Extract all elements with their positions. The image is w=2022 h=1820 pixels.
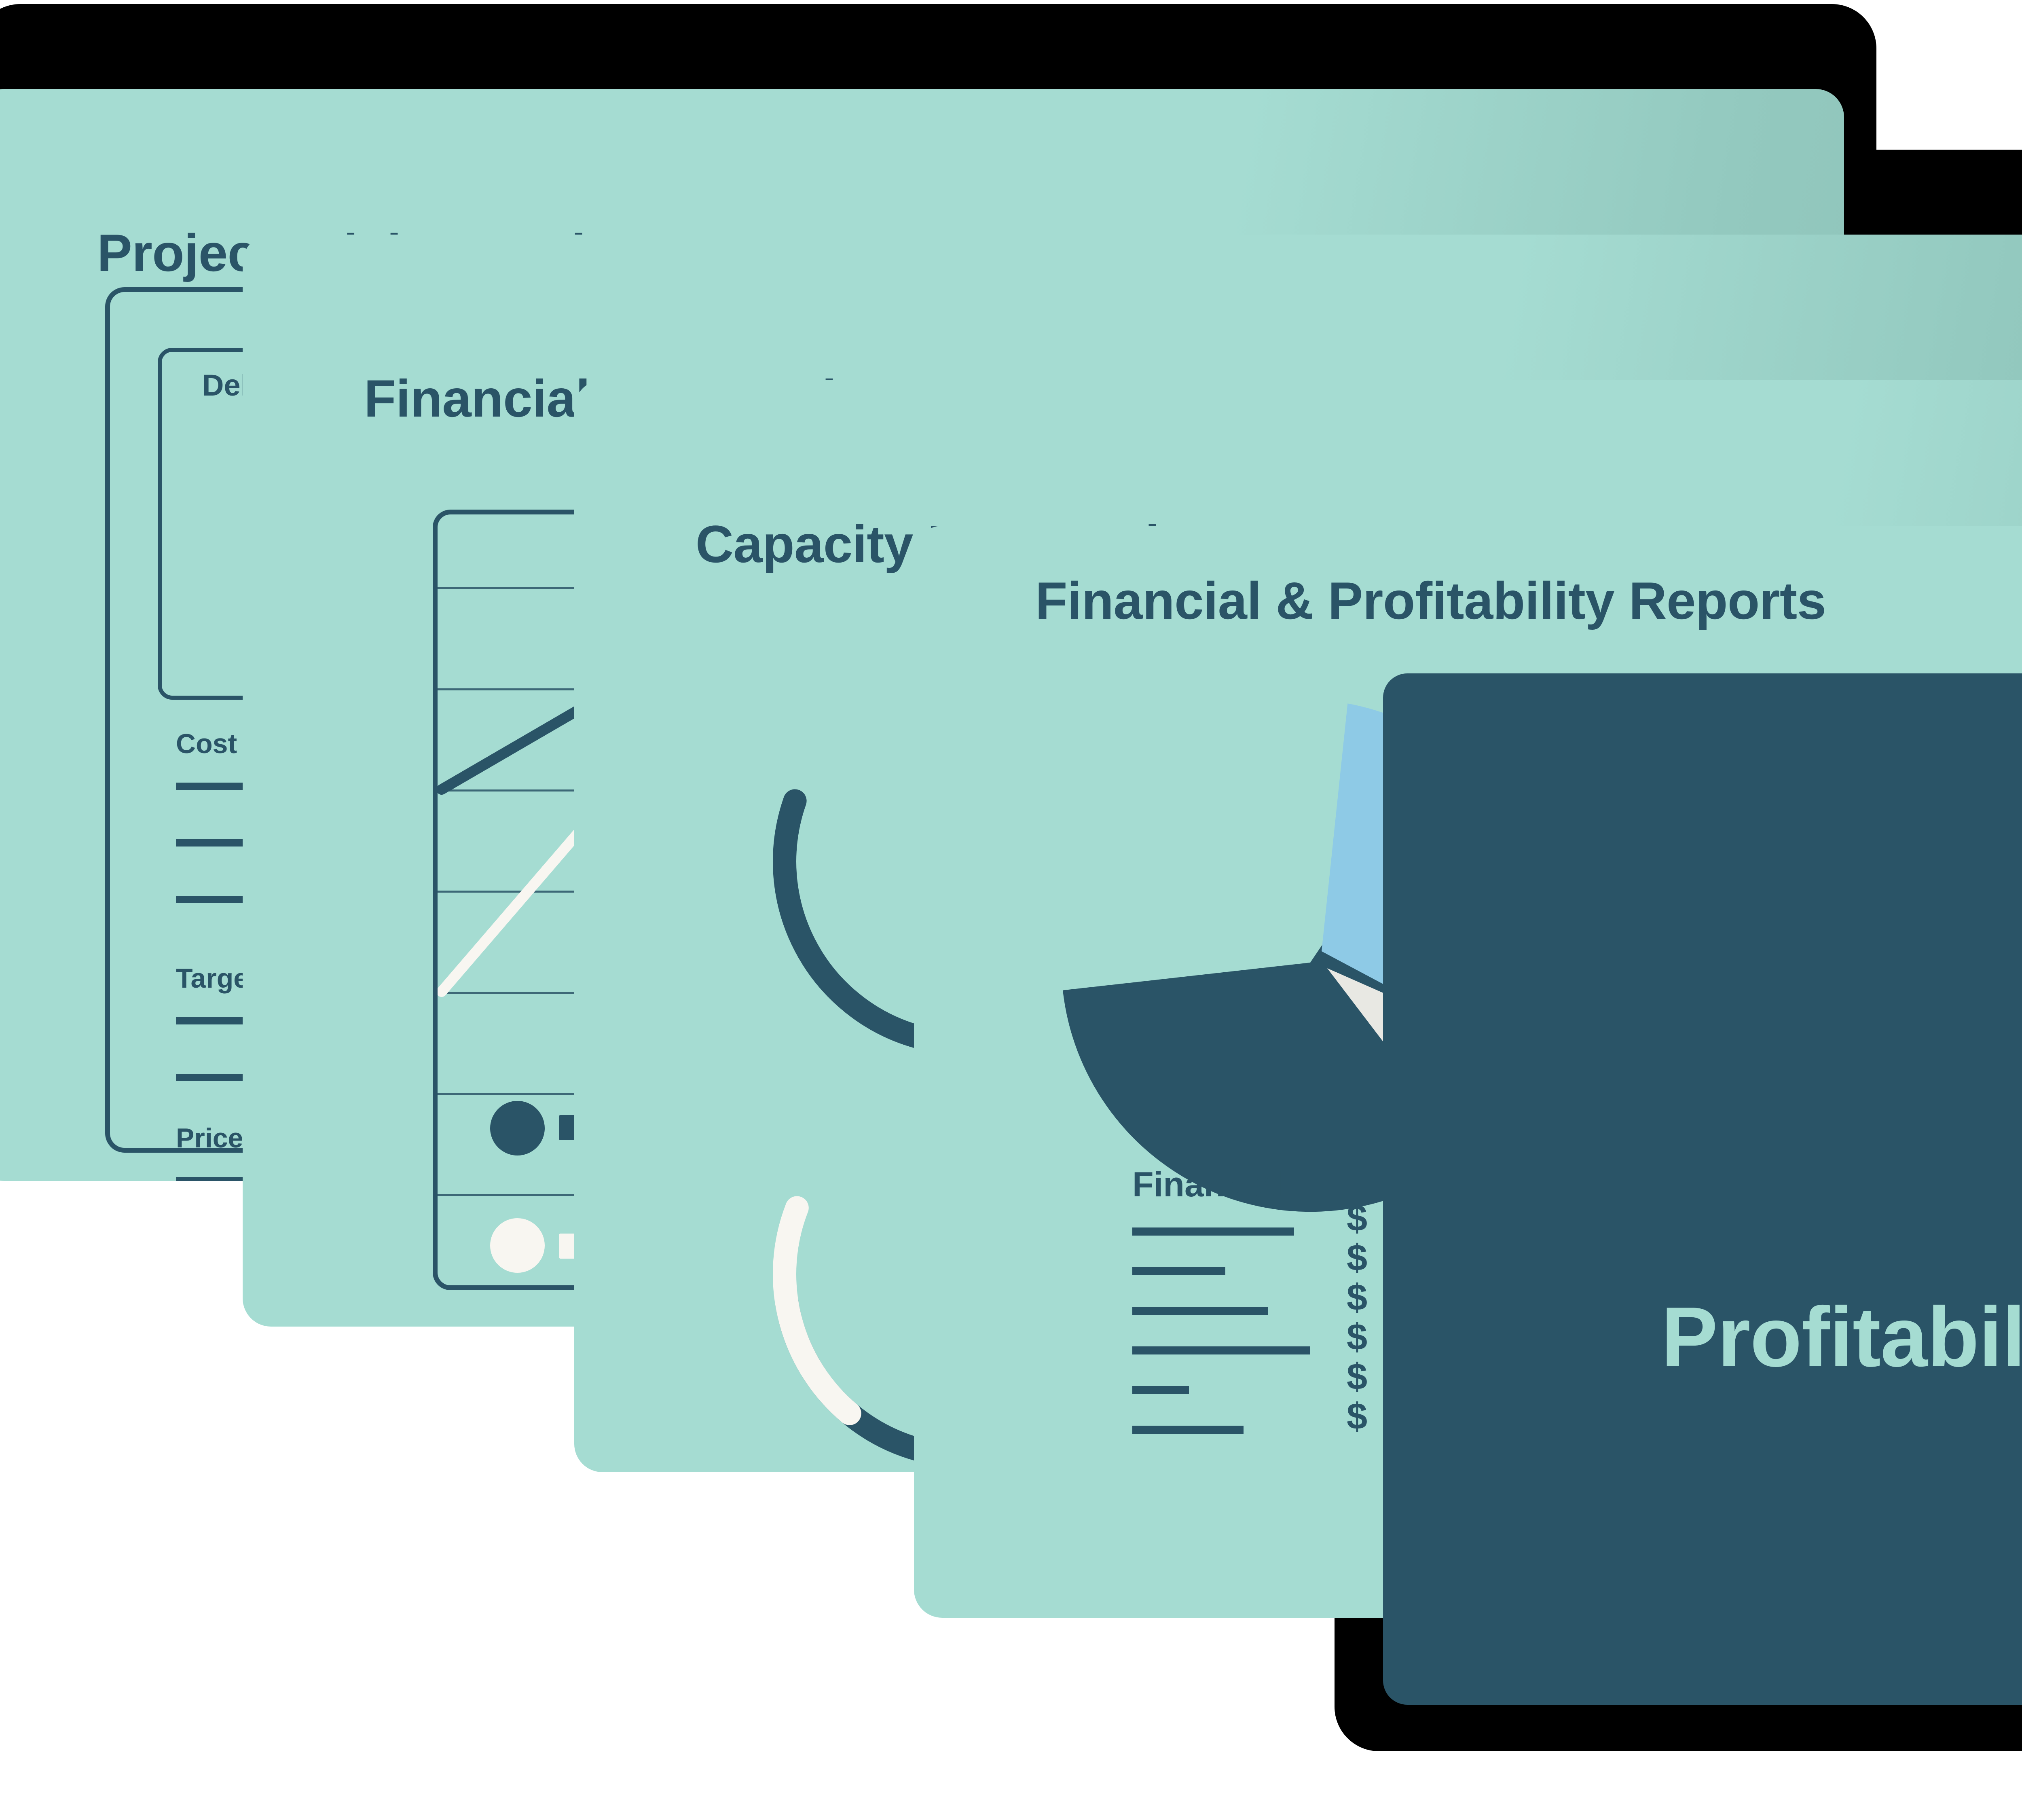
hero-title: Profitability Reporting Package [1383,1288,2022,1386]
financial-amount: $ [1347,1316,1367,1359]
primary-slider-knob[interactable] [490,1101,545,1155]
financial-row-rule [1132,1386,1189,1394]
financial-row-rule [1132,1227,1294,1236]
secondary-slider-knob[interactable] [490,1218,545,1273]
financial-list-heading: Financial [1132,1165,1283,1205]
financial-row-rule [1132,1307,1268,1315]
financial-amount: $ [1347,1197,1367,1240]
card-title-financial-profitability-reports: Financial & Profitability Reports [1035,570,1826,631]
card-stack-stage: Project Pricing Tools Delivery Margin 78… [0,0,2022,1820]
financial-amount: $ [1347,1276,1367,1319]
financial-amount: $ [1347,1356,1367,1398]
card-profitability-reporting-package[interactable]: Profitability Reporting Package [1383,673,2022,1705]
financial-row-rule [1132,1426,1244,1434]
financial-amount: $ [1347,1395,1367,1438]
financial-row-rule [1132,1346,1310,1354]
financial-amount: $ [1347,1237,1367,1279]
financial-row-rule [1132,1267,1225,1275]
